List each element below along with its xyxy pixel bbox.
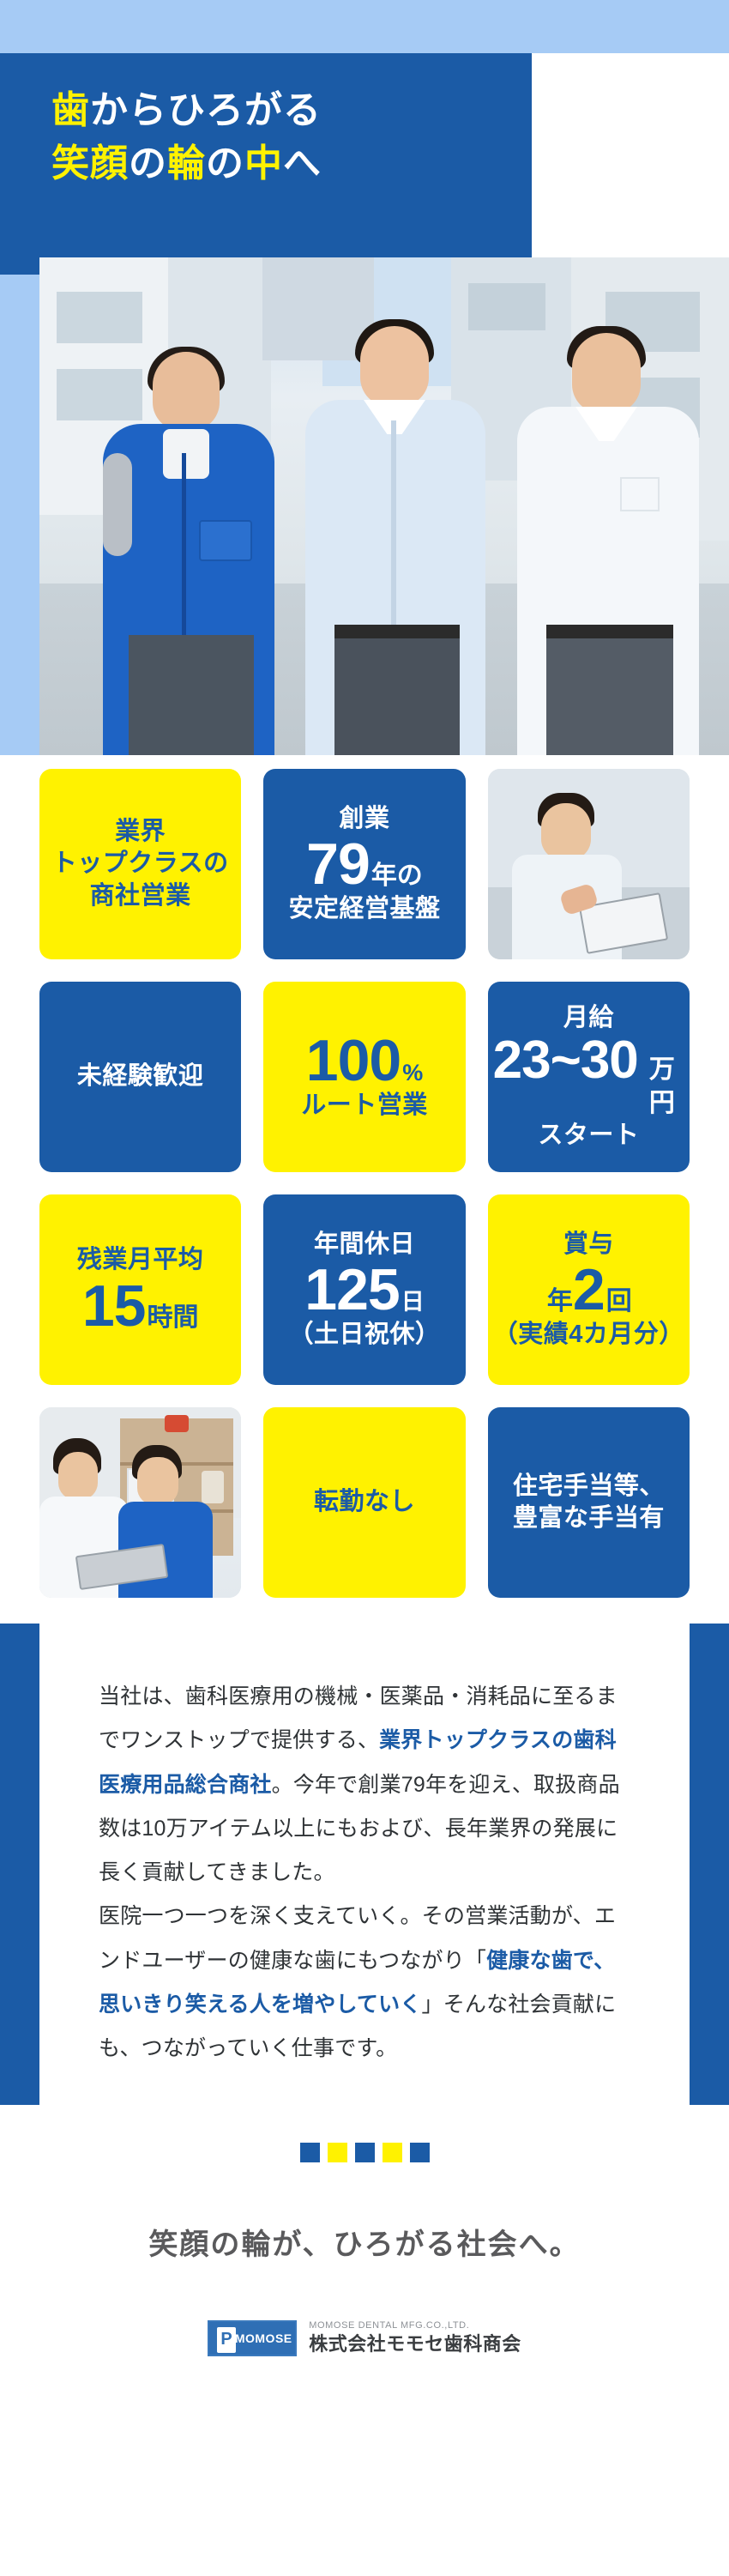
square-4 bbox=[383, 2143, 402, 2162]
card-annual-holidays-125: 年間休日 125 日 （土日祝休） bbox=[263, 1194, 465, 1385]
card-founded-79: 創業 79 年の 安定経営基盤 bbox=[263, 769, 465, 959]
right-blue-bar bbox=[690, 1624, 729, 2105]
momose-logo-icon: P MOMOSE bbox=[208, 2320, 297, 2356]
card-industry-top-line-3: 商社営業 bbox=[90, 880, 191, 912]
card-photo-colleagues-image bbox=[39, 1407, 241, 1598]
card-inexperienced-welcome-label: 未経験歓迎 bbox=[77, 1061, 204, 1092]
company-logo-row: P MOMOSE MOMOSE DENTAL MFG.CO.,LTD. 株式会社… bbox=[0, 2319, 729, 2356]
card-photo-smiling-staff bbox=[488, 769, 690, 959]
company-name-block: MOMOSE DENTAL MFG.CO.,LTD. 株式会社モモセ歯科商会 bbox=[309, 2319, 521, 2356]
hero-title-highlight-2: 笑顔 bbox=[51, 142, 129, 184]
hero-title-line-2: 笑顔の輪の中へ bbox=[51, 137, 322, 190]
description-paragraph-1: 当社は、歯科医療用の機械・医薬品・消耗品に至るまでワンストップで提供する、業界ト… bbox=[99, 1675, 630, 1895]
person-left-head bbox=[153, 352, 220, 431]
card-bonus-unit: 回 bbox=[606, 1285, 632, 1318]
person-right-head bbox=[572, 333, 641, 414]
card-annual-holidays-number: 125 bbox=[304, 1261, 399, 1319]
square-1 bbox=[300, 2143, 320, 2162]
logo-mark-text: MOMOSE bbox=[235, 2331, 292, 2345]
card-industry-top-line-1: 業界 bbox=[115, 816, 166, 848]
card-industry-top: 業界 トップクラスの 商社営業 bbox=[39, 769, 241, 959]
photo2-person-right-head bbox=[137, 1457, 178, 1505]
card-bonus-bottom: （実績4カ月分） bbox=[493, 1319, 684, 1351]
person-right-pants bbox=[546, 638, 673, 755]
card-housing-allowance-line-2: 豊富な手当有 bbox=[513, 1503, 665, 1534]
card-bonus-pre: 年 bbox=[547, 1285, 573, 1318]
person-center-placket bbox=[391, 420, 396, 644]
card-bonus-label: 賞与 bbox=[563, 1229, 614, 1261]
hero-title-highlight-4: 中 bbox=[244, 142, 283, 184]
person-center-head bbox=[360, 326, 429, 407]
card-monthly-salary-bottom: スタート bbox=[538, 1120, 639, 1152]
person-right-belt bbox=[546, 625, 673, 638]
hero-section: 歯からひろがる 笑顔の輪の中へ bbox=[0, 0, 729, 755]
card-bonus-2x: 賞与 年 2 回 （実績4カ月分） bbox=[488, 1194, 690, 1385]
card-photo-colleagues bbox=[39, 1407, 241, 1598]
card-overtime-number: 15 bbox=[82, 1277, 146, 1335]
hero-title-line-1: 歯からひろがる bbox=[51, 84, 322, 137]
card-route-sales-100: 100 % ルート営業 bbox=[263, 982, 465, 1172]
page-footer: 笑顔の輪が、ひろがる社会へ。 P MOMOSE MOMOSE DENTAL MF… bbox=[0, 2105, 729, 2356]
company-name-jp: 株式会社モモセ歯科商会 bbox=[309, 2332, 521, 2357]
card-bonus-number: 2 bbox=[573, 1261, 605, 1319]
hero-title-rest-1: からひろがる bbox=[90, 89, 322, 131]
hero-title-highlight-3: 輪 bbox=[167, 142, 206, 184]
decorative-squares bbox=[0, 2143, 729, 2162]
card-no-relocation: 転勤なし bbox=[263, 1407, 465, 1598]
card-founded-bottom: 安定経営基盤 bbox=[288, 893, 440, 925]
card-overtime-label: 残業月平均 bbox=[77, 1244, 204, 1276]
person-left-pocket bbox=[199, 520, 252, 561]
card-founded-unit: 年の bbox=[371, 860, 423, 892]
photo-person-head bbox=[541, 803, 591, 860]
square-5 bbox=[410, 2143, 430, 2162]
hero-title-seg-d: の bbox=[206, 142, 244, 184]
person-center-pants bbox=[334, 638, 460, 755]
card-monthly-salary-label: 月給 bbox=[563, 1002, 614, 1034]
person-center bbox=[297, 326, 494, 755]
hero-title-seg-b: の bbox=[129, 142, 167, 184]
person-center-belt bbox=[334, 625, 460, 638]
square-2 bbox=[328, 2143, 347, 2162]
card-annual-holidays-bottom: （土日祝休） bbox=[288, 1319, 440, 1351]
card-founded-label: 創業 bbox=[339, 803, 389, 835]
card-industry-top-line-2: トップクラスの bbox=[52, 848, 229, 880]
card-monthly-salary: 月給 23~30 万円 スタート bbox=[488, 982, 690, 1172]
person-left bbox=[91, 352, 288, 755]
person-left-undershirt bbox=[163, 429, 209, 479]
person-right bbox=[507, 333, 708, 755]
hero-title-highlight-1: 歯 bbox=[51, 89, 90, 131]
card-no-relocation-label: 転勤なし bbox=[314, 1486, 415, 1518]
hero-title-seg-f: へ bbox=[283, 142, 322, 184]
hero-title: 歯からひろがる 笑顔の輪の中へ bbox=[51, 84, 322, 191]
person-left-shoulder-panel bbox=[103, 453, 132, 556]
card-route-sales-bottom: ルート営業 bbox=[301, 1090, 428, 1122]
card-inexperienced-welcome: 未経験歓迎 bbox=[39, 982, 241, 1172]
card-housing-allowance-line-1: 住宅手当等、 bbox=[513, 1471, 665, 1503]
card-photo-smiling-staff-image bbox=[488, 769, 690, 959]
card-housing-allowance: 住宅手当等、 豊富な手当有 bbox=[488, 1407, 690, 1598]
company-description-copy: 当社は、歯科医療用の機械・医薬品・消耗品に至るまでワンストップで提供する、業界ト… bbox=[99, 1675, 630, 2071]
window-5 bbox=[468, 283, 545, 330]
photo2-red-object bbox=[165, 1415, 189, 1432]
company-description-section: 当社は、歯科医療用の機械・医薬品・消耗品に至るまでワンストップで提供する、業界ト… bbox=[0, 1624, 729, 2105]
card-overtime-unit: 時間 bbox=[147, 1302, 198, 1334]
card-route-sales-number: 100 bbox=[306, 1031, 401, 1090]
benefits-card-grid: 業界 トップクラスの 商社営業 創業 79 年の 安定経営基盤 未経験歓迎 10… bbox=[0, 769, 729, 1598]
photo2-person-left-head bbox=[58, 1452, 98, 1500]
hero-photo bbox=[39, 257, 729, 755]
card-overtime-15h: 残業月平均 15 時間 bbox=[39, 1194, 241, 1385]
description-paragraph-2: 医院一つ一つを深く支えていく。その営業活動が、エンドユーザーの健康な歯にもつなが… bbox=[99, 1895, 630, 2071]
square-3 bbox=[355, 2143, 375, 2162]
card-monthly-salary-unit: 万円 bbox=[640, 1054, 684, 1120]
left-blue-bar bbox=[0, 1624, 39, 2105]
person-left-pants bbox=[129, 635, 254, 755]
card-route-sales-unit: % bbox=[402, 1058, 423, 1088]
card-founded-number: 79 bbox=[306, 835, 370, 893]
card-annual-holidays-unit: 日 bbox=[401, 1287, 425, 1317]
window-1 bbox=[57, 292, 142, 343]
person-right-pocket bbox=[620, 477, 660, 511]
card-monthly-salary-number: 23~30 bbox=[493, 1034, 638, 1087]
card-annual-holidays-label: 年間休日 bbox=[314, 1229, 415, 1261]
hero-top-band bbox=[0, 0, 729, 53]
footer-tagline: 笑顔の輪が、ひろがる社会へ。 bbox=[0, 2221, 729, 2263]
logo-p-letter: P bbox=[217, 2327, 236, 2353]
photo2-clock bbox=[202, 1471, 224, 1503]
company-name-en: MOMOSE DENTAL MFG.CO.,LTD. bbox=[309, 2319, 521, 2331]
